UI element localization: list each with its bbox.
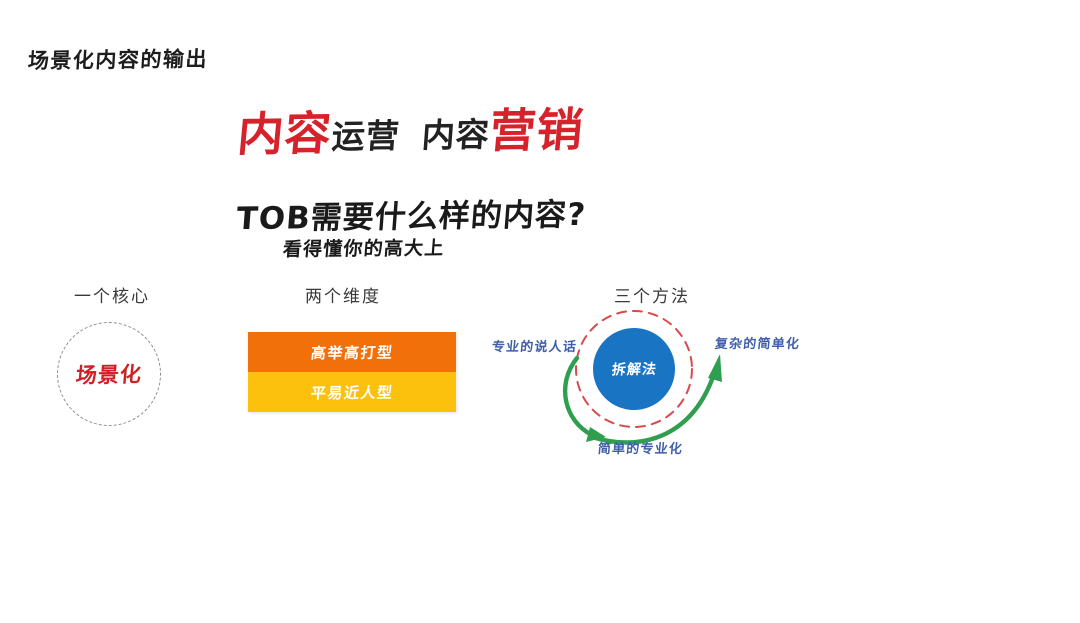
dimension-bar-high-impact: 高举高打型 [248,332,456,372]
question-subheading: 看得懂你的高大上 [282,233,446,261]
core-circle-label: 场景化 [75,358,144,389]
method-label-bottom: 简单的专业化 [597,438,684,457]
dimension-bars: 高举高打型 平易近人型 [248,332,456,412]
method-core-circle: 拆解法 [593,328,675,410]
headline-part1-big: 内容 [235,97,335,164]
dimension-bar-approachable: 平易近人型 [248,372,456,412]
headline: 内容 运营 内容 营销 [238,94,585,165]
question-heading: TOB需要什么样的内容? [235,189,588,238]
method-diagram: 拆解法 专业的说人话 复杂的简单化 简单的专业化 [480,300,840,480]
dimension-bar-label: 平易近人型 [310,381,395,403]
method-label-right: 复杂的简单化 [714,333,801,352]
column-caption-dimensions: 两个维度 [305,282,381,307]
slide-canvas: 场景化内容的输出 内容 运营 内容 营销 TOB需要什么样的内容? 看得懂你的高… [0,0,1080,623]
headline-part1-small: 运营 [330,109,402,158]
method-label-left: 专业的说人话 [491,336,578,355]
headline-part2-big: 营销 [487,94,587,161]
slide-label: 场景化内容的输出 [27,43,209,75]
core-circle: 场景化 [57,322,161,426]
headline-part2-small: 内容 [420,108,492,157]
method-core-label: 拆解法 [610,359,657,380]
dimension-bar-label: 高举高打型 [310,341,395,363]
column-caption-core: 一个核心 [74,282,150,307]
